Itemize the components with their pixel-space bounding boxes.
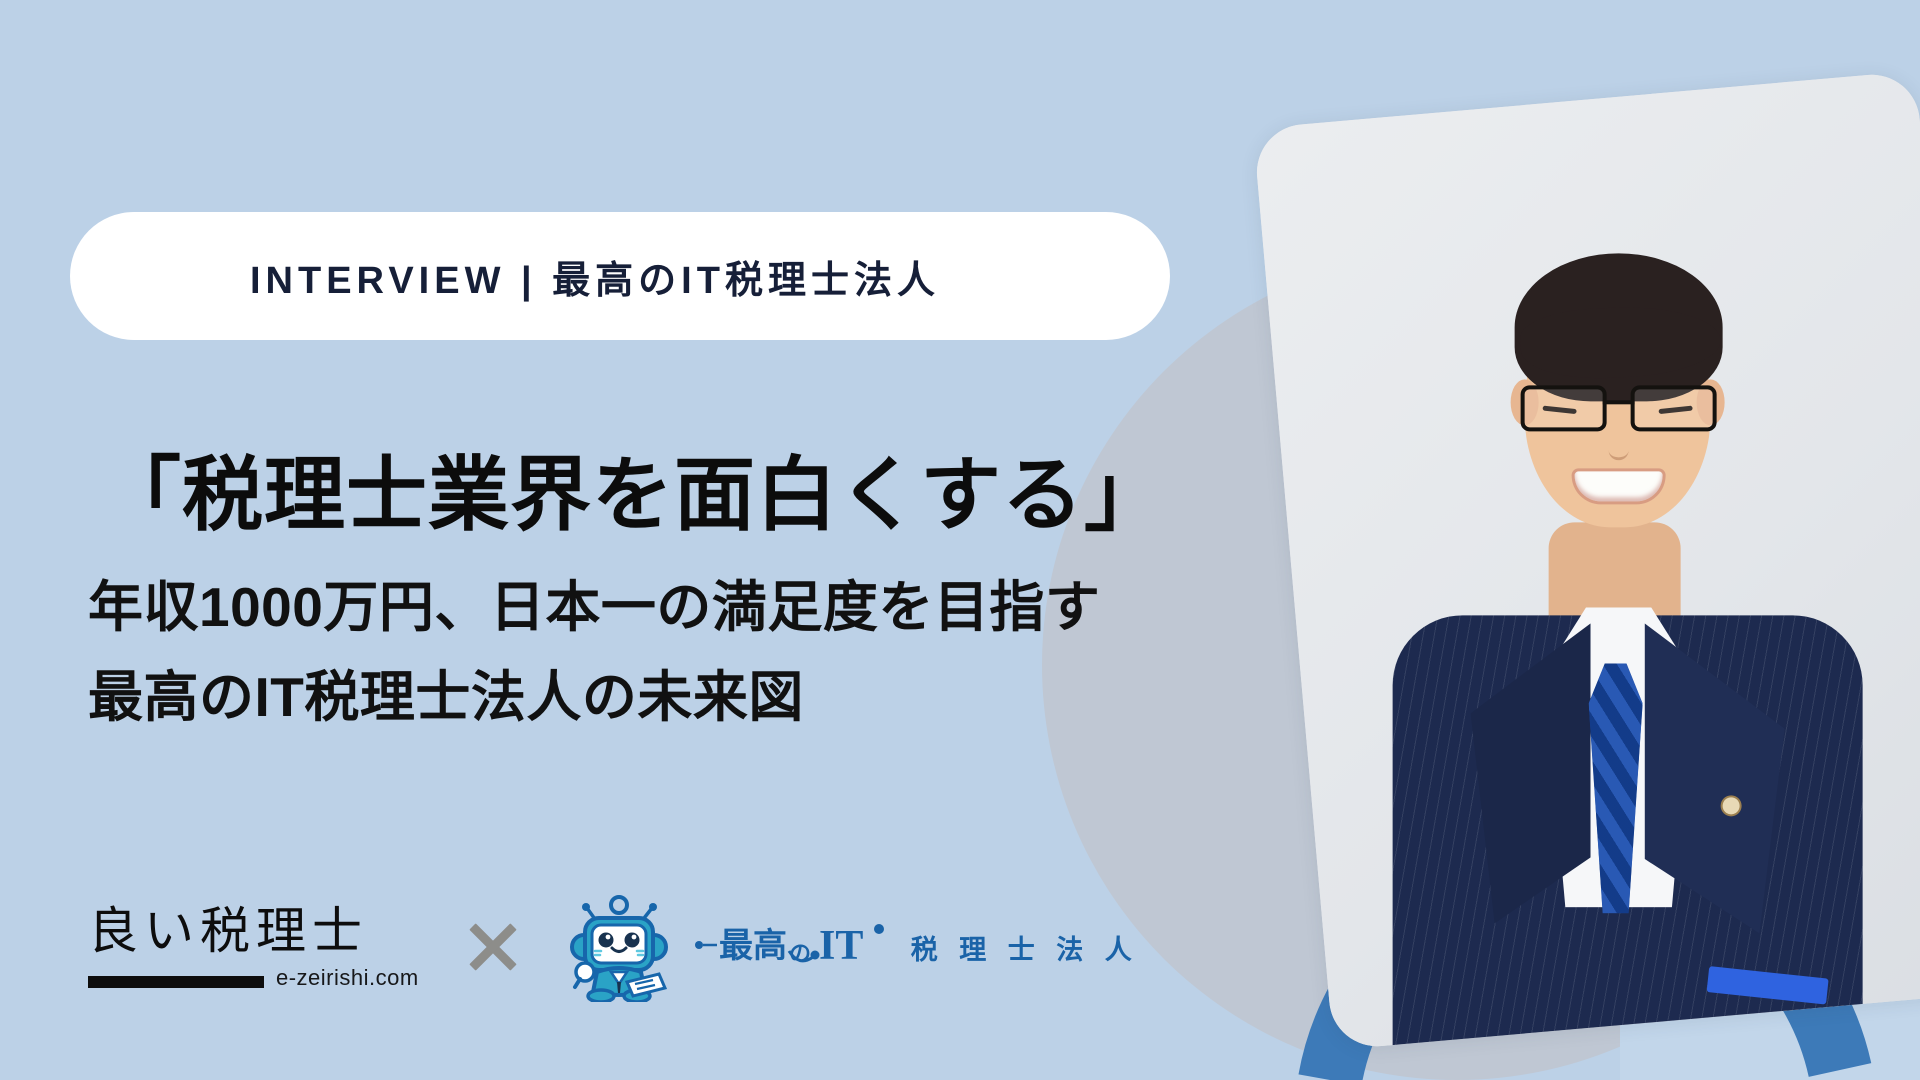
glasses-lens-right <box>1631 385 1717 431</box>
logo-e-zeirishi[interactable]: 良い税理士 e-zeirishi.com <box>88 906 419 988</box>
logo-wordmark-suffix: 税 理 士 法 人 <box>911 928 1139 967</box>
portrait-photo <box>1253 71 1920 1050</box>
svg-text:最高: 最高 <box>719 927 787 965</box>
logo-underline-bar <box>88 976 264 988</box>
glasses-icon <box>1521 385 1717 425</box>
interview-banner: INTERVIEW | 最高のIT税理士法人 「税理士業界を面白くする」 年収1… <box>0 0 1920 1080</box>
interview-badge-label: INTERVIEW | 最高のIT税理士法人 <box>250 249 940 304</box>
robot-mascot-icon <box>567 892 671 1002</box>
page-title: 「税理士業界を面白くする」 <box>100 430 1166 547</box>
logo-wordmark-saikou-no-it: 最高 の IT <box>693 911 893 983</box>
footer-logos: 良い税理士 e-zeirishi.com <box>88 892 1139 1002</box>
subtitle-line-2: 最高のIT税理士法人の未来図 <box>88 652 804 732</box>
portrait-hair <box>1515 253 1723 401</box>
portrait-photo-card <box>1253 71 1920 1050</box>
svg-text:の: の <box>789 941 811 966</box>
glasses-lens-left <box>1521 385 1607 431</box>
cross-separator-icon <box>467 921 519 973</box>
logo-e-zeirishi-title: 良い税理士 <box>88 906 368 956</box>
portrait-nose <box>1609 439 1629 460</box>
portrait-smile <box>1575 471 1663 501</box>
svg-text:IT: IT <box>819 923 863 969</box>
subtitle-line-1: 年収1000万円、日本一の満足度を目指す <box>88 562 1100 642</box>
logo-wordmark-group: 最高 の IT 税 理 士 法 人 <box>693 911 1139 983</box>
portrait-lapel-pin <box>1723 797 1740 814</box>
logo-e-zeirishi-url: e-zeirishi.com <box>276 968 419 988</box>
interview-badge: INTERVIEW | 最高のIT税理士法人 <box>70 212 1170 340</box>
logo-saikou-no-it[interactable]: 最高 の IT 税 理 士 法 人 <box>567 892 1139 1002</box>
logo-e-zeirishi-row: e-zeirishi.com <box>88 968 419 988</box>
